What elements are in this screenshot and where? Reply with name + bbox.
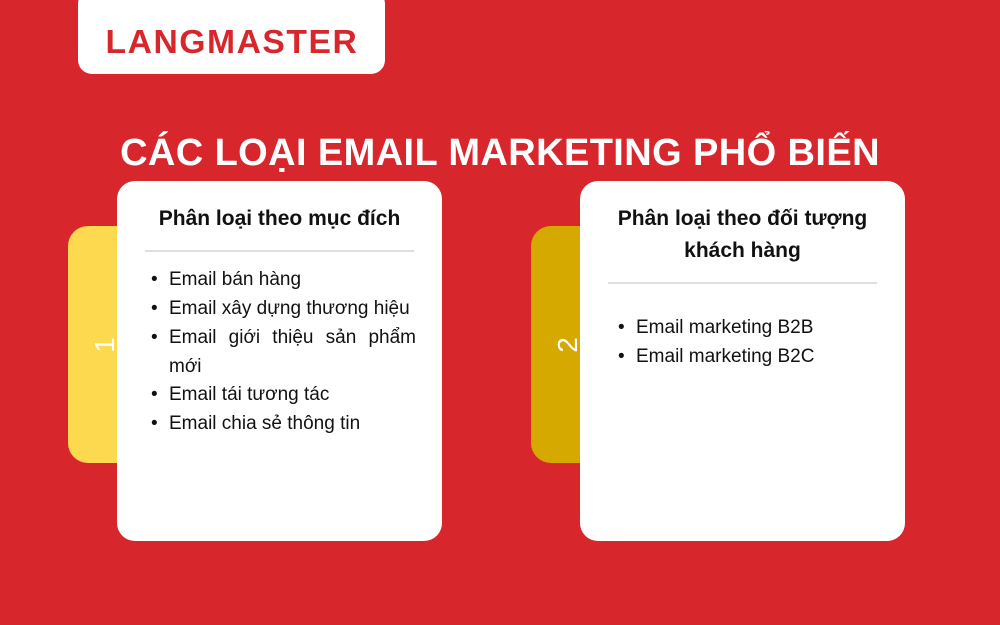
logo-plate: LANGMASTER (78, 0, 385, 74)
brand-logo-text: LANGMASTER (105, 25, 358, 58)
page-title: CÁC LOẠI EMAIL MARKETING PHỔ BIẾN (0, 133, 1000, 175)
category-card-2-list: Email marketing B2B Email marketing B2C (606, 314, 879, 372)
list-item: Email giới thiệu sản phẩm mới (169, 324, 416, 382)
category-card-1: Phân loại theo mục đích Email bán hàng E… (117, 181, 442, 541)
list-item: Email chia sẻ thông tin (169, 410, 416, 439)
list-item: Email marketing B2B (636, 314, 879, 343)
category-card-2: Phân loại theo đối tượng khách hàng Emai… (580, 181, 905, 541)
list-item: Email xây dựng thương hiệu (169, 295, 416, 324)
number-badge-1-label: 1 (91, 337, 119, 353)
card-2-divider (608, 282, 877, 284)
category-card-1-title: Phân loại theo mục đích (143, 203, 416, 235)
category-card-2-title: Phân loại theo đối tượng khách hàng (606, 203, 879, 267)
list-item: Email marketing B2C (636, 343, 879, 372)
list-item: Email bán hàng (169, 266, 416, 295)
category-card-1-list: Email bán hàng Email xây dựng thương hiệ… (143, 266, 416, 439)
card-1-divider (145, 250, 414, 252)
number-badge-2-label: 2 (554, 337, 582, 353)
list-item: Email tái tương tác (169, 381, 416, 410)
